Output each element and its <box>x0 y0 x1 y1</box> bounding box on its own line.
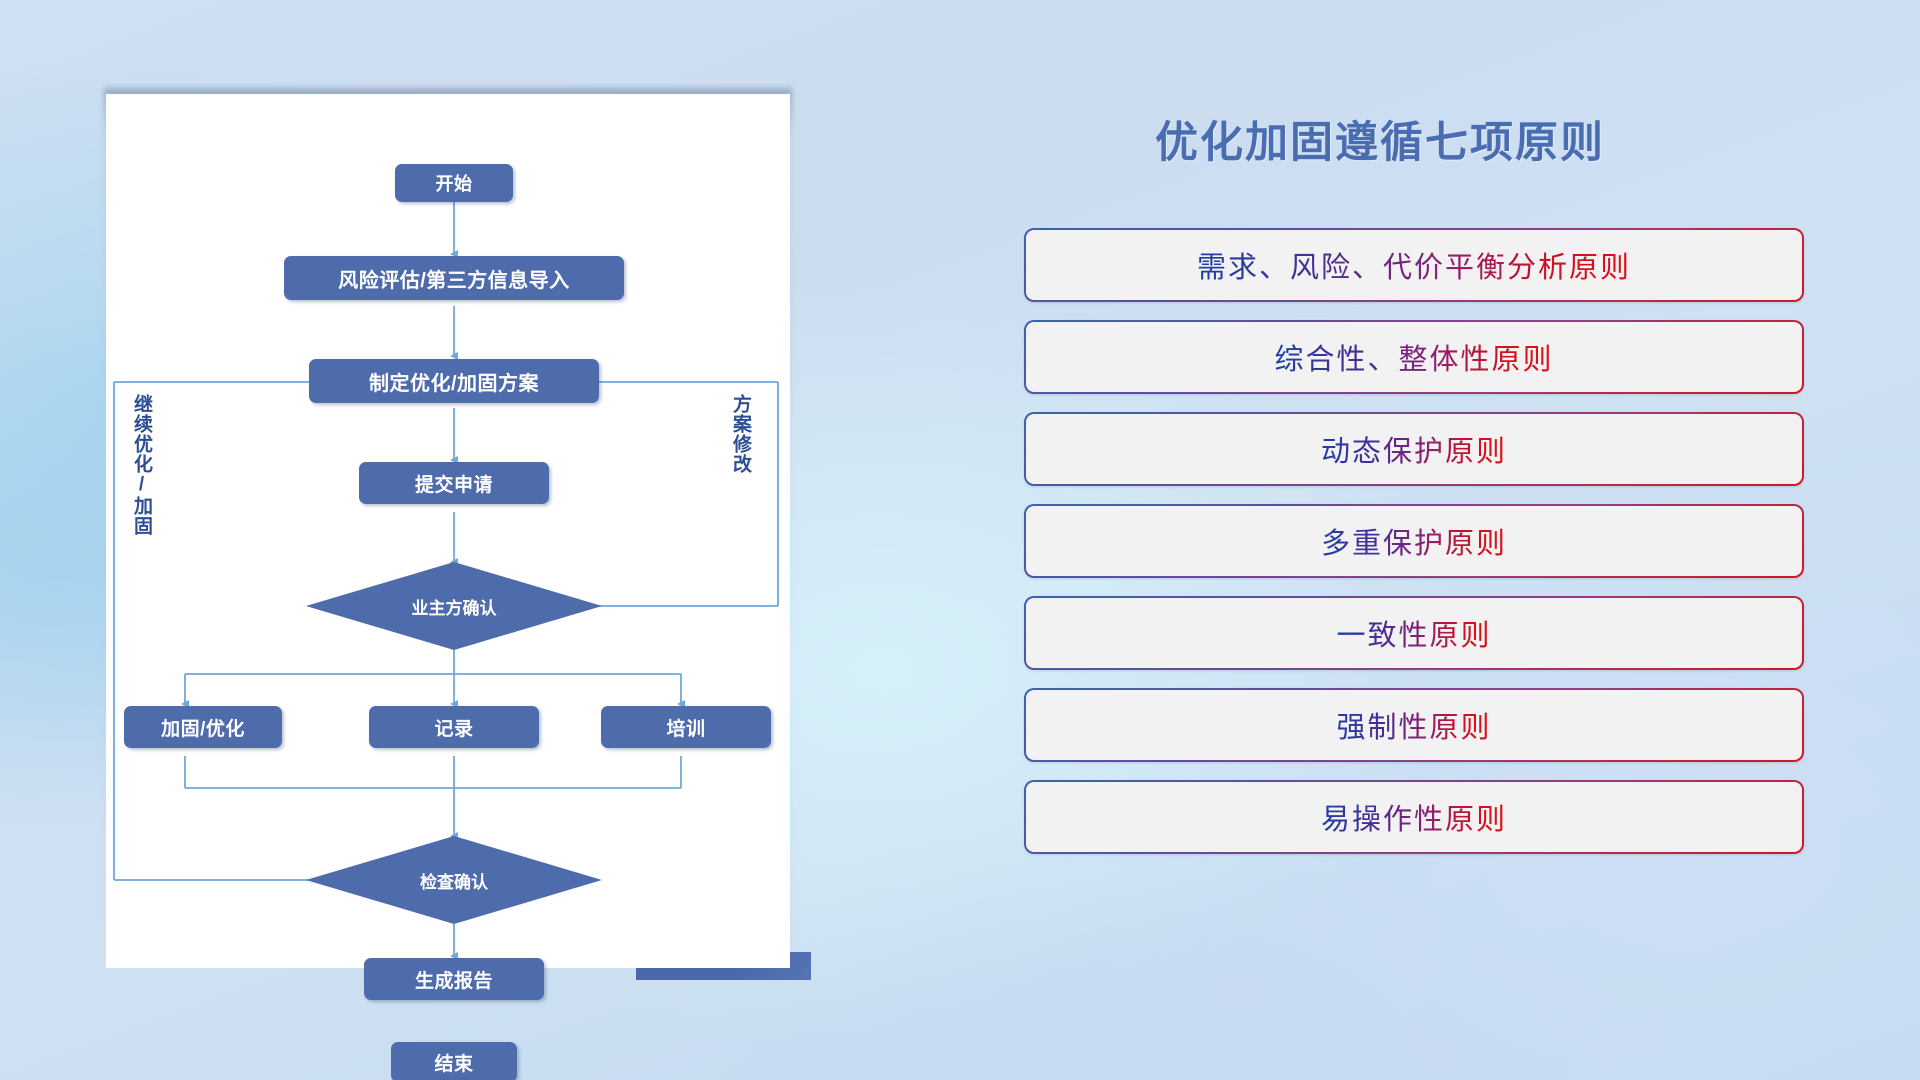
flow-node-label: 业主方确认 <box>412 594 497 619</box>
flowchart: 开始 风险评估/第三方信息导入 制定优化/加固方案 提交申请 业主方确认 加固/… <box>106 94 790 968</box>
principle-item-inner: 易操作性原则 <box>1026 782 1802 852</box>
flow-node-label: 加固/优化 <box>161 714 245 741</box>
flow-decision-inspection[interactable]: 检查确认 <box>306 836 602 924</box>
flow-node-label: 检查确认 <box>420 868 488 893</box>
flow-node-risk-assessment[interactable]: 风险评估/第三方信息导入 <box>284 256 624 300</box>
principle-item-inner: 需求、风险、代价平衡分析原则 <box>1026 230 1802 300</box>
flow-node-report[interactable]: 生成报告 <box>364 958 544 1000</box>
flow-node-label: 提交申请 <box>415 470 493 497</box>
flow-node-label: 培训 <box>666 714 705 741</box>
principle-item[interactable]: 多重保护原则 <box>1024 504 1804 578</box>
principles-list: 需求、风险、代价平衡分析原则 综合性、整体性原则 动态保护原则 多重保护原则 一… <box>1024 228 1804 872</box>
principle-item-label: 动态保护原则 <box>1321 428 1507 470</box>
flow-node-record[interactable]: 记录 <box>369 706 539 748</box>
flow-edge-label-plan-revision: 方案修改 <box>731 394 750 474</box>
flow-node-label: 生成报告 <box>415 966 493 993</box>
principle-item[interactable]: 综合性、整体性原则 <box>1024 320 1804 394</box>
principle-item-label: 多重保护原则 <box>1321 520 1507 562</box>
flow-node-training[interactable]: 培训 <box>601 706 771 748</box>
principle-item-inner: 综合性、整体性原则 <box>1026 322 1802 392</box>
flow-node-label: 结束 <box>434 1049 473 1076</box>
flow-node-label: 记录 <box>434 714 473 741</box>
principle-item-label: 综合性、整体性原则 <box>1274 336 1553 378</box>
principle-item-label: 一致性原则 <box>1336 612 1491 654</box>
principle-item-label: 易操作性原则 <box>1321 796 1507 838</box>
flow-edge-label-continue-optimize: 继续优化/加固 <box>132 394 151 536</box>
principle-item-label: 强制性原则 <box>1336 704 1491 746</box>
flow-node-end[interactable]: 结束 <box>391 1042 517 1080</box>
flow-node-reinforce[interactable]: 加固/优化 <box>124 706 282 748</box>
flow-node-start[interactable]: 开始 <box>395 164 513 202</box>
principle-item[interactable]: 动态保护原则 <box>1024 412 1804 486</box>
flow-node-label: 制定优化/加固方案 <box>369 367 539 396</box>
principle-item[interactable]: 需求、风险、代价平衡分析原则 <box>1024 228 1804 302</box>
flow-node-plan[interactable]: 制定优化/加固方案 <box>309 359 599 403</box>
principle-item-inner: 一致性原则 <box>1026 598 1802 668</box>
slide-canvas: 开始 风险评估/第三方信息导入 制定优化/加固方案 提交申请 业主方确认 加固/… <box>0 0 1920 1080</box>
principle-item-label: 需求、风险、代价平衡分析原则 <box>1197 244 1631 286</box>
principle-item-inner: 强制性原则 <box>1026 690 1802 760</box>
principle-item[interactable]: 易操作性原则 <box>1024 780 1804 854</box>
principle-item-inner: 动态保护原则 <box>1026 414 1802 484</box>
flow-node-submit[interactable]: 提交申请 <box>359 462 549 504</box>
principle-item[interactable]: 一致性原则 <box>1024 596 1804 670</box>
principle-item-inner: 多重保护原则 <box>1026 506 1802 576</box>
flowchart-card: 开始 风险评估/第三方信息导入 制定优化/加固方案 提交申请 业主方确认 加固/… <box>106 94 790 968</box>
flow-node-label: 风险评估/第三方信息导入 <box>338 264 570 293</box>
flow-node-label: 开始 <box>436 170 473 196</box>
panel-title: 优化加固遵循七项原则 <box>1030 108 1730 170</box>
flow-decision-owner-confirm[interactable]: 业主方确认 <box>306 562 602 650</box>
principle-item[interactable]: 强制性原则 <box>1024 688 1804 762</box>
